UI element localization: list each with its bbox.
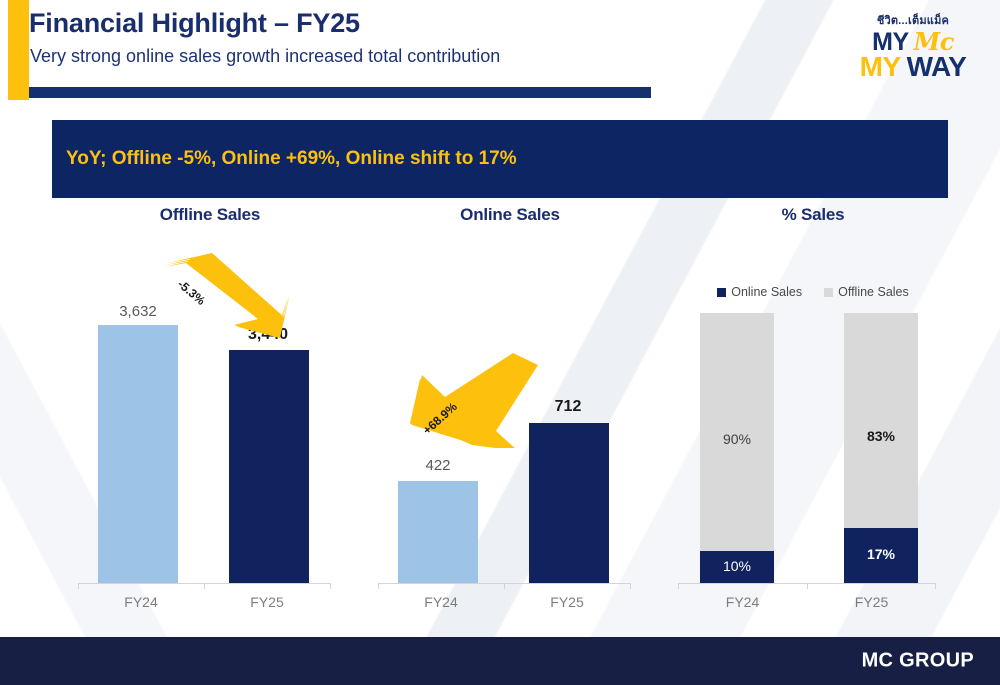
axis-tick-pct-left (678, 583, 679, 589)
slide-footer: MC GROUP (0, 637, 1000, 685)
segment-label-online-fy24: 10% (700, 558, 774, 574)
category-label-fy25: FY25 (204, 594, 330, 610)
brand-logo: ชีวิต...เต็มแม็ค MY Mc MY WAY (838, 16, 988, 81)
legend-item-offline[interactable]: Offline Sales (824, 285, 909, 299)
segment-offline-fy25 (844, 313, 918, 528)
axis-tick-online-mid (504, 583, 505, 589)
footer-brand-text: MC GROUP (862, 650, 974, 673)
chart-online-sales: Online Sales 422 712 FY24 FY25 +68.9% (360, 205, 660, 625)
axis-tick-pct-right (935, 583, 936, 589)
logo-tagline: ชีวิต...เต็มแม็ค (838, 16, 988, 27)
category-label-pct-fy25: FY25 (807, 594, 936, 610)
chart-title-offline: Offline Sales (60, 205, 360, 225)
logo-way-text: WAY (907, 53, 967, 81)
arrow-down-icon (160, 253, 290, 338)
chart-percent-sales: % Sales Online Sales Offline Sales 90% 1… (668, 205, 958, 625)
logo-my2-text: MY (860, 53, 901, 81)
bar-offline-fy25 (229, 350, 309, 583)
category-label-fy24: FY24 (78, 594, 204, 610)
headline-text: YoY; Offline -5%, Online +69%, Online sh… (52, 148, 517, 170)
category-label-online-fy25: FY25 (504, 594, 630, 610)
axis-tick-online-right (630, 583, 631, 589)
trend-arrow-down: -5.3% (160, 253, 290, 338)
trend-arrow-up: +68.9% (410, 353, 540, 448)
segment-label-online-fy25: 17% (844, 546, 918, 562)
category-label-pct-fy24: FY24 (678, 594, 807, 610)
category-label-online-fy24: FY24 (378, 594, 504, 610)
axis-tick-pct-mid (807, 583, 808, 589)
bar-online-fy25 (529, 423, 609, 583)
header-divider (29, 87, 651, 98)
chart-title-percent: % Sales (668, 205, 958, 225)
header-accent-bar (8, 0, 29, 100)
chart-title-online: Online Sales (360, 205, 660, 225)
legend-swatch-online-icon (717, 288, 726, 297)
segment-label-offline-fy25: 83% (844, 428, 918, 444)
axis-tick-right (330, 583, 331, 589)
bar-offline-fy24 (98, 325, 178, 583)
bar-online-fy24 (398, 481, 478, 583)
legend-swatch-offline-icon (824, 288, 833, 297)
page-title: Financial Highlight – FY25 (29, 8, 360, 39)
axis-tick-mid (204, 583, 205, 589)
segment-label-offline-fy24: 90% (700, 431, 774, 447)
bar-value-label-online-fy24: 422 (378, 457, 498, 474)
legend-item-online[interactable]: Online Sales (717, 285, 802, 299)
axis-tick-left (78, 583, 79, 589)
headline-banner: YoY; Offline -5%, Online +69%, Online sh… (52, 120, 948, 198)
logo-line-two: MY WAY (838, 53, 988, 81)
slide-canvas: Financial Highlight – FY25 Very strong o… (0, 0, 1000, 685)
chart-legend: Online Sales Offline Sales (668, 285, 958, 299)
legend-label-online: Online Sales (731, 285, 802, 299)
legend-label-offline: Offline Sales (838, 285, 909, 299)
axis-tick-online-left (378, 583, 379, 589)
chart-offline-sales: Offline Sales 3,632 3,440 FY24 FY25 -5.3… (60, 205, 360, 625)
page-subtitle: Very strong online sales growth increase… (30, 46, 500, 67)
